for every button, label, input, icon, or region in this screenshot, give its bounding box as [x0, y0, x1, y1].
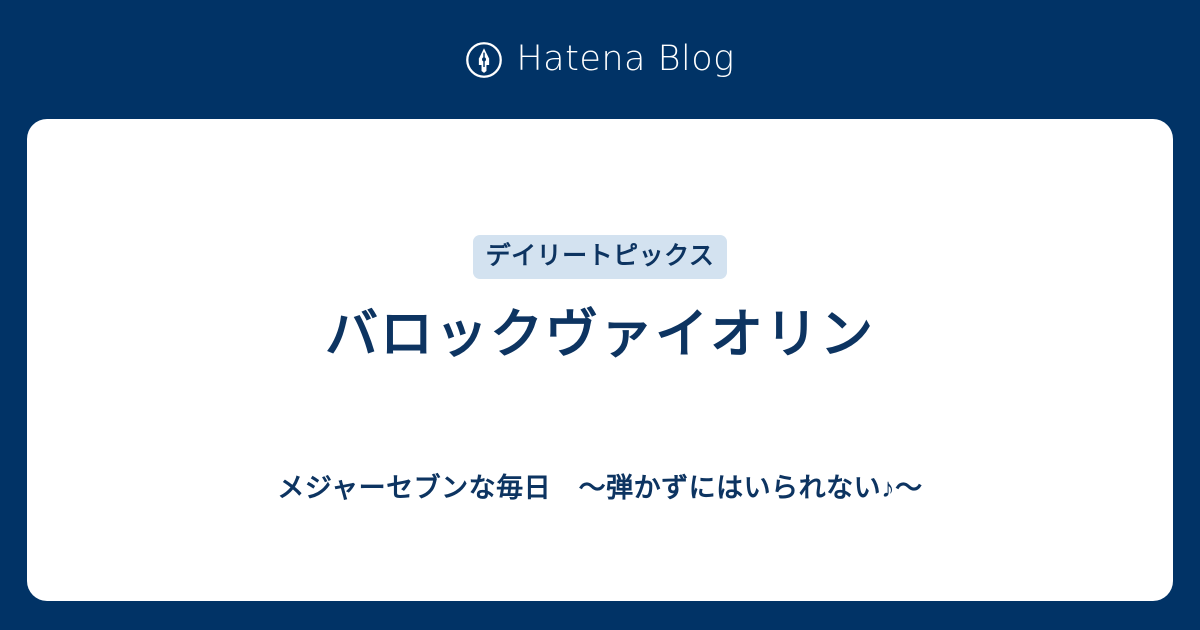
entry-card: デイリートピックス バロックヴァイオリン メジャーセブンな毎日 〜弾かずにはいら…: [27, 119, 1173, 601]
entry-title: バロックヴァイオリン: [325, 305, 875, 364]
og-image-canvas: Hatena Blog デイリートピックス バロックヴァイオリン メジャーセブン…: [0, 0, 1200, 630]
category-tag[interactable]: デイリートピックス: [473, 235, 728, 279]
brand-name-label: Hatena Blog: [516, 42, 734, 77]
blog-subtitle: メジャーセブンな毎日 〜弾かずにはいられない♪〜: [277, 472, 922, 504]
pen-nib-in-circle-icon: [465, 41, 503, 79]
hatena-blog-brand-header[interactable]: Hatena Blog: [0, 0, 1200, 119]
